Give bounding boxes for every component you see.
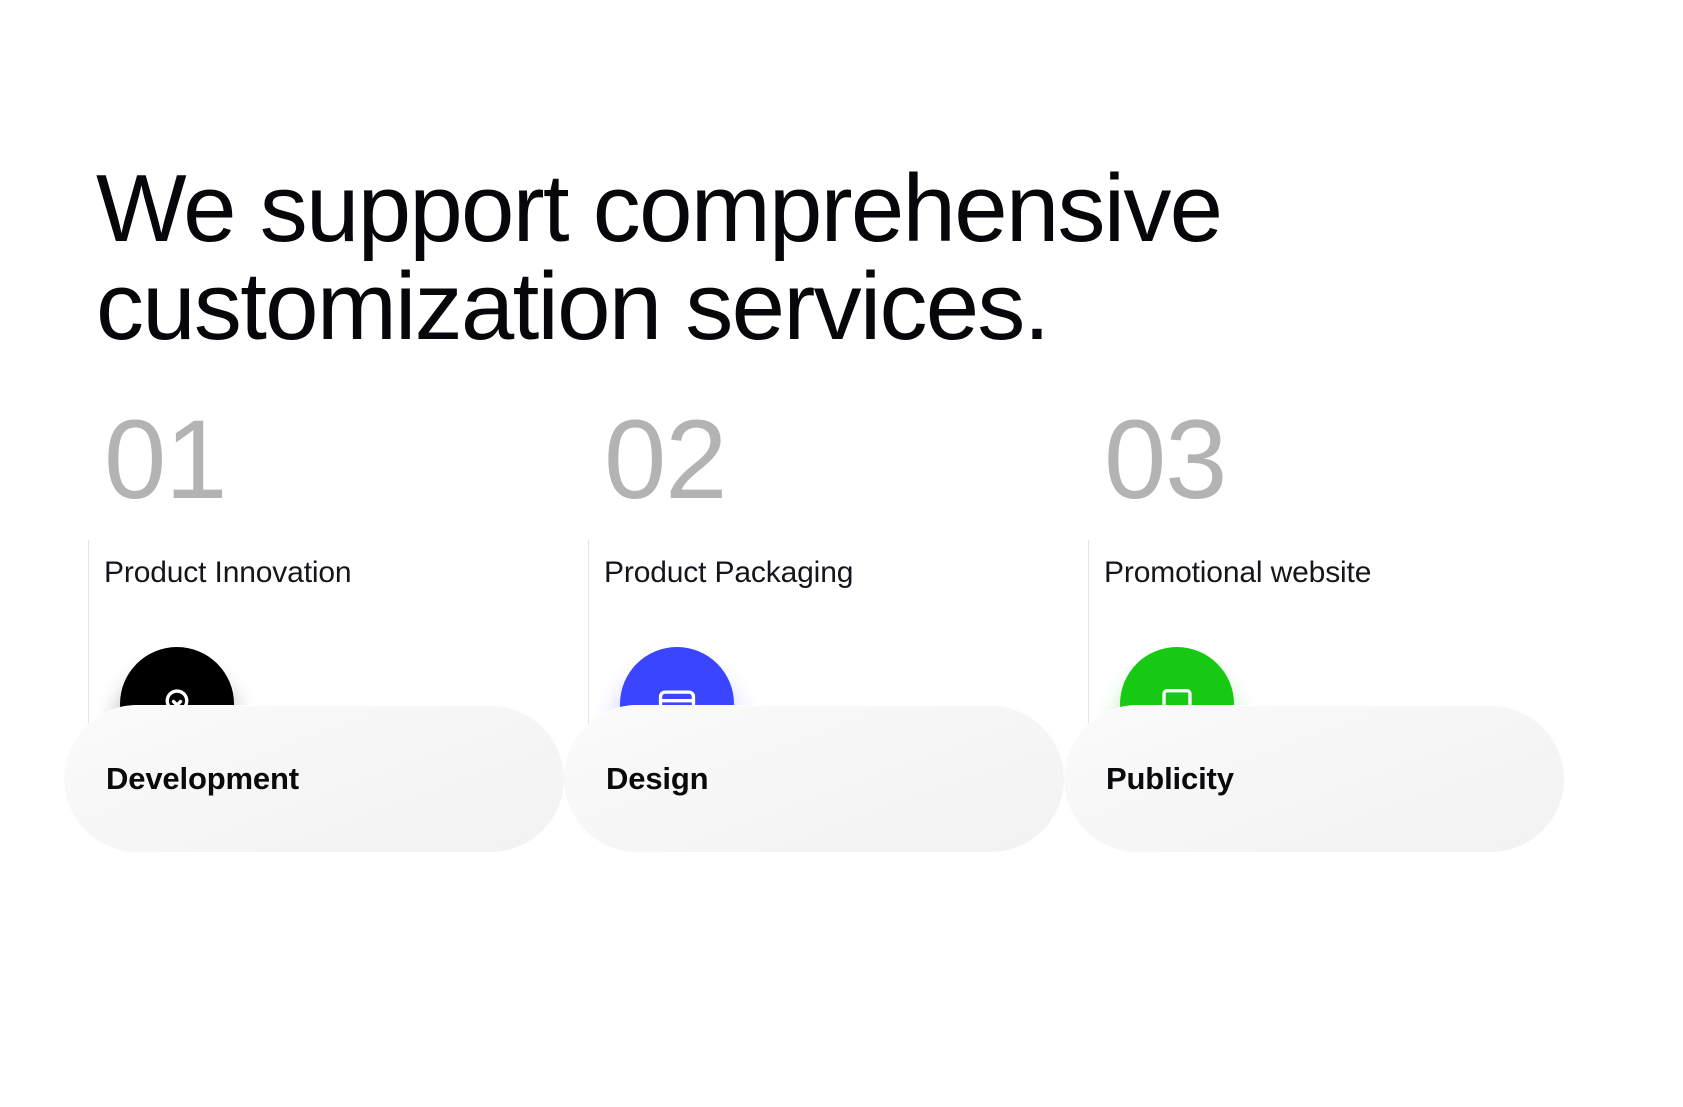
service-subtitle: Product Packaging — [604, 554, 853, 592]
service-card-development[interactable]: 01 Product Innovation Development — [64, 416, 564, 896]
page-title: We support comprehensive customization s… — [96, 160, 1516, 356]
service-step-number: 01 — [104, 404, 226, 516]
service-subtitle: Promotional website — [1104, 554, 1371, 592]
service-step-number: 03 — [1104, 404, 1226, 516]
service-pill-development[interactable]: Development — [64, 705, 564, 852]
service-pill-label: Development — [106, 761, 299, 797]
service-step-number: 02 — [604, 404, 726, 516]
service-pill-label: Publicity — [1106, 761, 1234, 797]
services-list: 01 Product Innovation Development — [0, 416, 1683, 896]
service-pill-label: Design — [606, 761, 708, 797]
service-card-publicity[interactable]: 03 Promotional website Publicity — [1064, 416, 1564, 896]
service-pill-publicity[interactable]: Publicity — [1064, 705, 1564, 852]
service-pill-design[interactable]: Design — [564, 705, 1064, 852]
service-card-design[interactable]: 02 Product Packaging Design — [564, 416, 1064, 896]
service-subtitle: Product Innovation — [104, 554, 351, 592]
page-root: We support comprehensive customization s… — [0, 0, 1683, 1107]
